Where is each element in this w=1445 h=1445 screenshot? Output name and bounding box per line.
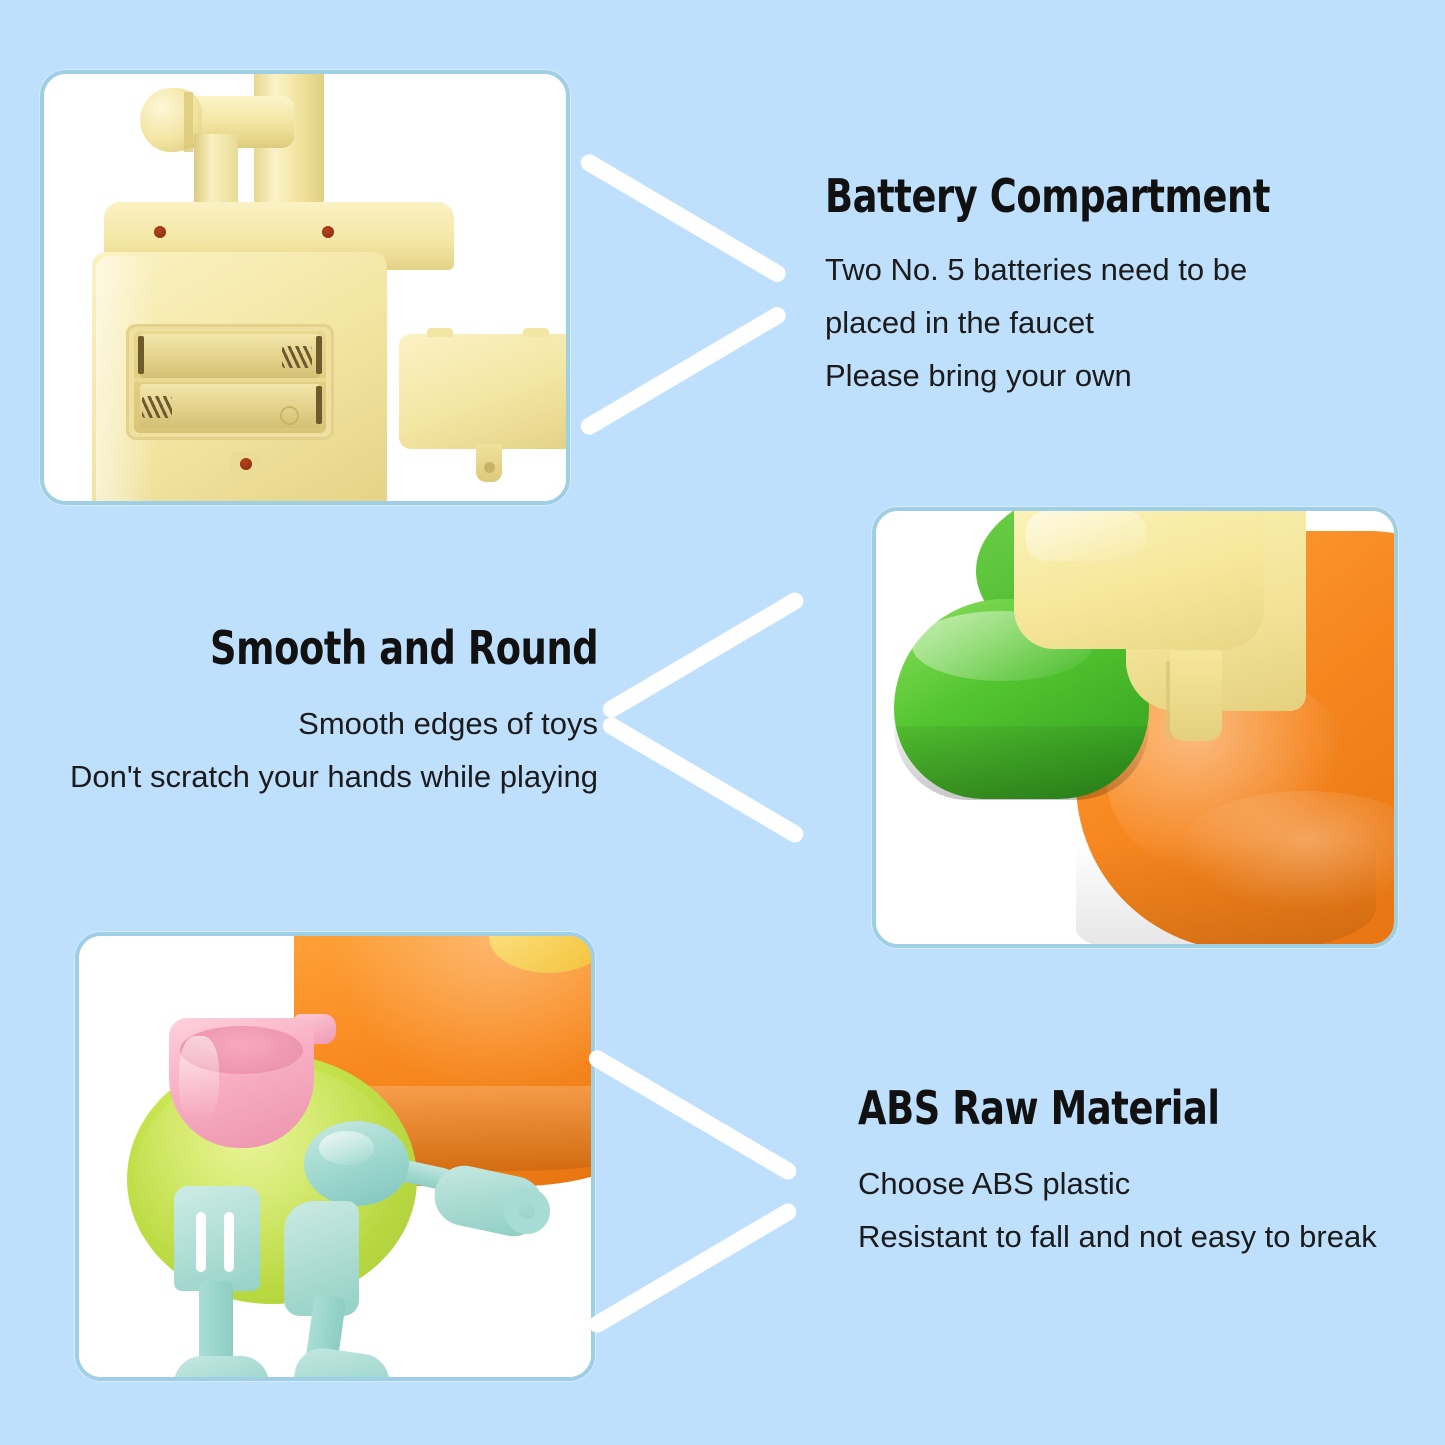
photo-smooth-and-round <box>872 507 1398 948</box>
cover-tab <box>427 328 453 337</box>
yellow-bar-highlight <box>1026 511 1146 561</box>
chevron-bar-lower <box>600 714 807 845</box>
feature-battery-heading: Battery Compartment <box>825 172 1270 221</box>
feature-smooth-line-2: Don't scratch your hands while playing <box>22 750 598 803</box>
chevron-left-icon-smooth <box>612 572 822 847</box>
battery-contact <box>138 336 144 374</box>
photo-smooth-content <box>876 511 1394 944</box>
feature-abs-line-2: Resistant to fall and not easy to break <box>858 1210 1377 1263</box>
feature-battery-text: Battery Compartment Two No. 5 batteries … <box>825 172 1381 403</box>
chevron-bar-upper <box>586 1047 800 1182</box>
battery-cover-screw-hole <box>484 462 495 473</box>
pink-cup-highlight <box>179 1036 219 1121</box>
photo-battery-content <box>44 74 566 501</box>
spoon-bowl-highlight <box>319 1131 374 1165</box>
chevron-bar-upper <box>600 589 807 720</box>
faucet-ring <box>184 92 193 152</box>
chevron-bar-lower <box>578 304 789 438</box>
feature-smooth-text: Smooth and Round Smooth edges of toys Do… <box>22 624 598 803</box>
feature-smooth-description: Smooth edges of toys Don't scratch your … <box>22 697 598 804</box>
feature-battery-line-2: placed in the faucet <box>825 296 1381 349</box>
yellow-seam-line <box>1166 661 1170 741</box>
feature-abs-heading: ABS Raw Material <box>858 1084 1273 1133</box>
battery-slot-divider <box>134 378 326 382</box>
chevron-right-icon-abs <box>596 1046 814 1328</box>
orange-basin-edge <box>1076 841 1376 944</box>
screw-icon <box>322 226 334 238</box>
feature-battery-line-1: Two No. 5 batteries need to be <box>825 243 1381 296</box>
chevron-right-icon-battery <box>588 150 803 430</box>
chevron-bar-upper <box>578 151 789 285</box>
feature-abs-text: ABS Raw Material Choose ABS plastic Resi… <box>858 1084 1377 1263</box>
infographic-canvas: Battery Compartment Two No. 5 batteries … <box>0 0 1445 1445</box>
feature-smooth-line-1: Smooth edges of toys <box>22 697 598 750</box>
fork-head <box>174 1186 260 1291</box>
yellow-clip <box>1170 651 1222 741</box>
battery-spring <box>142 396 172 418</box>
battery-spring <box>282 346 312 368</box>
battery-cover <box>399 334 566 449</box>
chevron-bar-lower <box>586 1200 800 1335</box>
photo-abs-raw-material <box>75 932 595 1381</box>
battery-polarity-mark <box>280 406 299 425</box>
green-part-rim-shadow <box>894 726 1149 800</box>
feature-abs-description: Choose ABS plastic Resistant to fall and… <box>858 1157 1377 1264</box>
photo-battery-compartment <box>40 70 570 505</box>
fork-tine-gap <box>224 1212 234 1272</box>
feature-battery-description: Two No. 5 batteries need to be placed in… <box>825 243 1381 403</box>
feature-battery-line-3: Please bring your own <box>825 349 1381 402</box>
battery-contact <box>316 386 322 424</box>
knife-handle <box>290 1345 392 1377</box>
screw-icon <box>154 226 166 238</box>
cover-tab <box>523 328 549 337</box>
feature-abs-line-1: Choose ABS plastic <box>858 1157 1377 1210</box>
feature-smooth-heading: Smooth and Round <box>210 624 598 673</box>
fork-handle <box>174 1356 269 1377</box>
orange-basin-highlight <box>329 936 591 1096</box>
battery-contact <box>316 336 322 374</box>
photo-abs-content <box>79 936 591 1377</box>
fork-tine-gap <box>196 1212 206 1272</box>
screw-icon <box>240 458 252 470</box>
